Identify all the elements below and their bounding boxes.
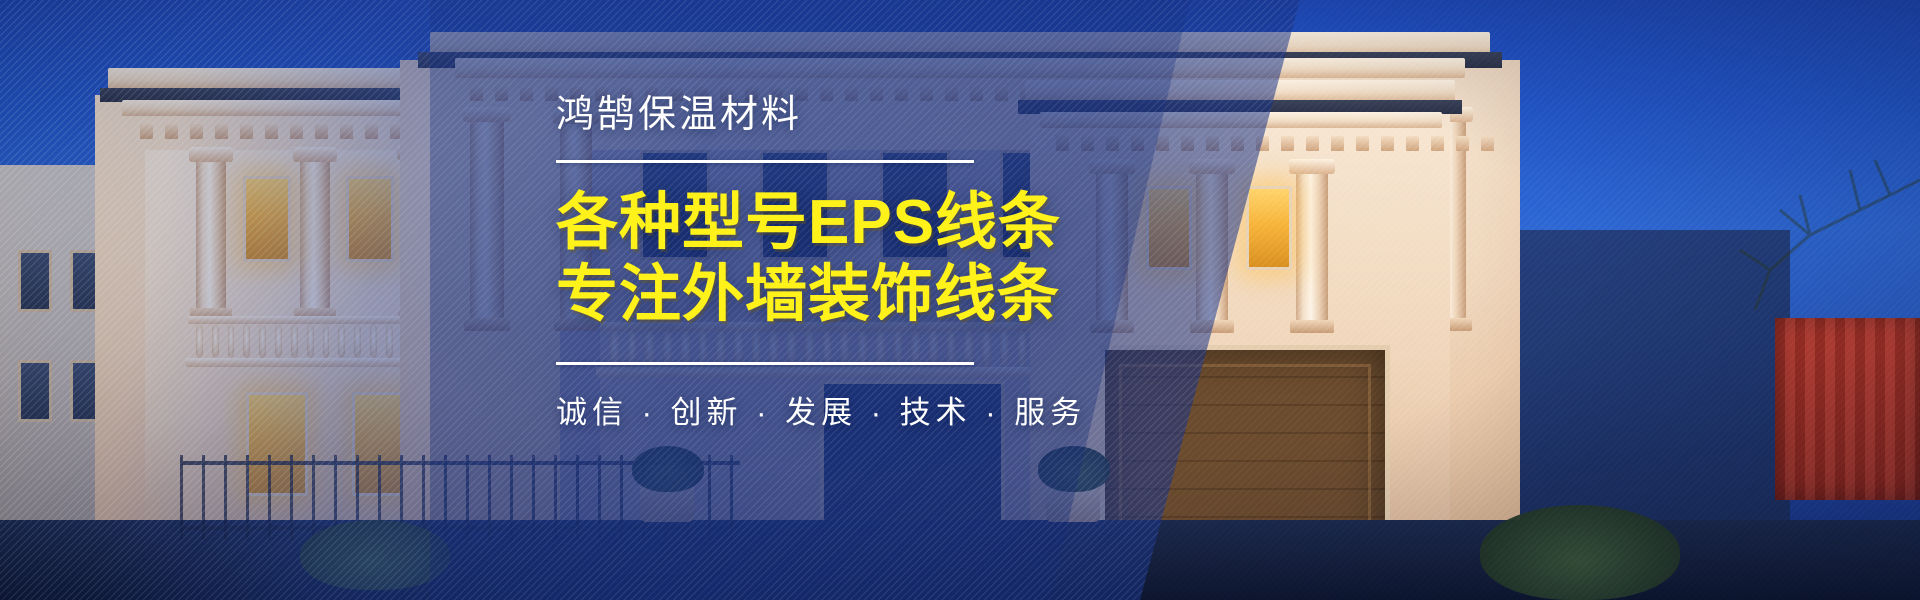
window-left-upper-2 [346,176,394,262]
headline-line-1: 各种型号EPS线条 [556,187,1196,260]
column-center-1 [470,120,504,320]
brand-name: 鸿鹄保温材料 [556,96,1196,136]
tree-branch-icon [1660,140,1920,400]
window-far-left-3 [18,360,52,422]
center-cornice-lower [455,58,1465,78]
window-far-left-1 [18,250,52,312]
window-right-upper-2 [1246,186,1292,270]
window-left-upper-1 [243,176,291,262]
shrub-foreground-right [1480,505,1680,600]
promo-banner: 鸿鹄保温材料 各种型号EPS线条 专注外墙装饰线条 诚信 · 创新 · 发展 ·… [0,0,1920,600]
column-left-2 [300,160,330,310]
shrub-left [632,446,704,492]
shrub-right [1038,446,1110,492]
banner-content: 鸿鹄保温材料 各种型号EPS线条 专注外墙装饰线条 诚信 · 创新 · 发展 ·… [556,96,1196,432]
tagline: 诚信 · 创新 · 发展 · 技术 · 服务 [556,387,1196,432]
column-left-1 [196,160,226,310]
column-right-2 [1196,172,1228,322]
headline-block: 各种型号EPS线条 专注外墙装饰线条 [556,187,1196,332]
headline-line-2: 专注外墙装饰线条 [556,259,1196,332]
divider-top [556,160,974,163]
column-right-3 [1296,172,1328,322]
shrub-foreground-left [300,520,450,590]
divider-bottom [556,362,974,365]
